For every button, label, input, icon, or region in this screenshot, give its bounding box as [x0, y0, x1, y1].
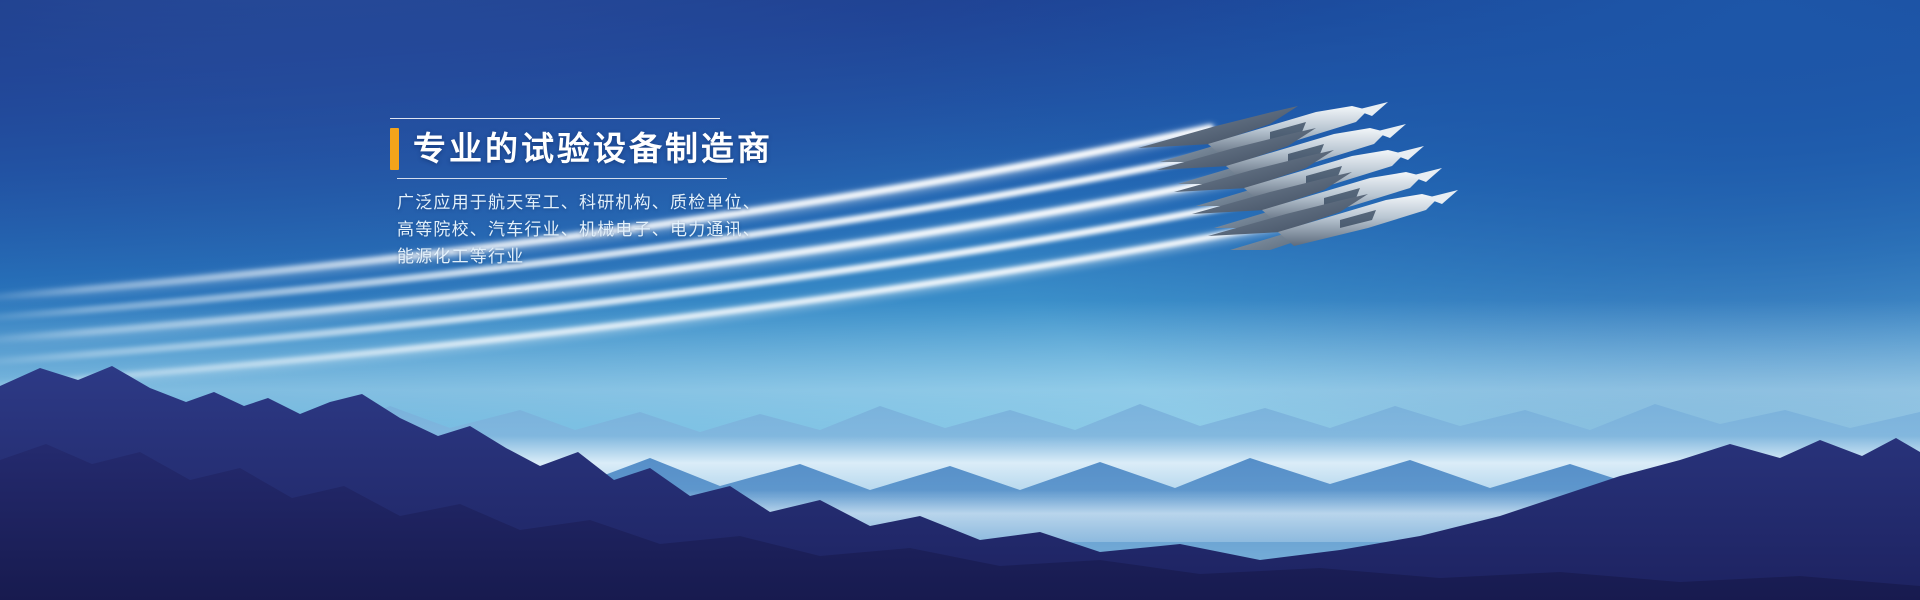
hero-banner: 专业的试验设备制造商 广泛应用于航天军工、科研机构、质检单位、 高等院校、汽车行… [0, 0, 1920, 600]
accent-bar [390, 128, 399, 170]
headline-top-rule [390, 118, 720, 119]
headline-bottom-rule [397, 178, 727, 179]
headline-row: 专业的试验设备制造商 [390, 126, 1030, 172]
banner-subtext: 广泛应用于航天军工、科研机构、质检单位、 高等院校、汽车行业、机械电子、电力通讯… [397, 190, 1030, 271]
page-title: 专业的试验设备制造商 [413, 128, 773, 170]
subtext-line: 能源化工等行业 [397, 244, 1030, 271]
subtext-line: 高等院校、汽车行业、机械电子、电力通讯、 [397, 217, 1030, 244]
subtext-line: 广泛应用于航天军工、科研机构、质检单位、 [397, 190, 1030, 217]
mountain-range-silhouette [0, 340, 1920, 600]
fighter-jet-formation [1120, 40, 1520, 290]
banner-copy: 专业的试验设备制造商 广泛应用于航天军工、科研机构、质检单位、 高等院校、汽车行… [390, 118, 1030, 271]
